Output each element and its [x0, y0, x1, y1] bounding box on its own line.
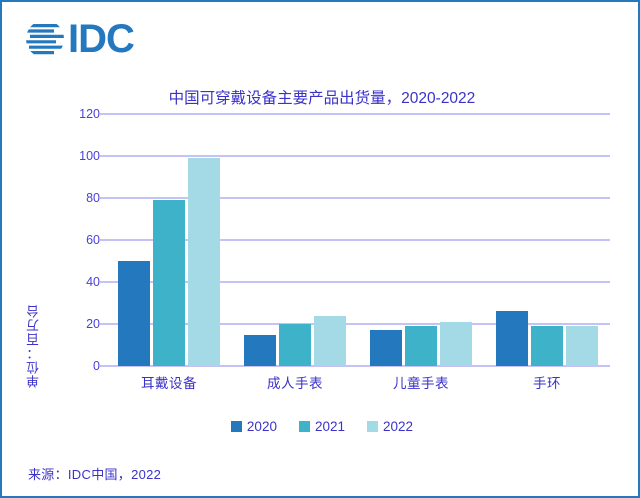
- idc-globe-icon: [24, 18, 66, 60]
- idc-logo-text: IDC: [68, 19, 134, 59]
- bar-2021-儿童手表[interactable]: [405, 326, 437, 366]
- bar-2022-手环[interactable]: [566, 326, 598, 366]
- bar-2022-耳戴设备[interactable]: [188, 158, 220, 366]
- bar-2022-儿童手表[interactable]: [440, 322, 472, 366]
- bar-2021-成人手表[interactable]: [279, 324, 311, 366]
- plot-area: 单位：百万台 020406080100120 耳戴设备成人手表儿童手表手环: [2, 114, 640, 404]
- y-axis-tick-labels: 020406080100120: [54, 114, 100, 384]
- bar-2020-成人手表[interactable]: [244, 335, 276, 367]
- bar-group: [358, 114, 484, 366]
- y-axis-tick-label: 40: [54, 276, 100, 289]
- bar-groups: [106, 114, 610, 366]
- legend-label: 2021: [315, 420, 345, 434]
- y-axis-title: 单位：百万台: [24, 304, 44, 388]
- y-axis-tick-label: 0: [54, 360, 100, 373]
- x-axis-category-labels: 耳戴设备成人手表儿童手表手环: [106, 372, 610, 392]
- bar-2020-耳戴设备[interactable]: [118, 261, 150, 366]
- idc-logo: IDC: [24, 16, 134, 62]
- bar-2021-耳戴设备[interactable]: [153, 200, 185, 366]
- legend-item-2021[interactable]: 2021: [299, 420, 345, 434]
- chart-title: 中国可穿戴设备主要产品出货量，2020-2022: [2, 86, 640, 108]
- bar-2022-成人手表[interactable]: [314, 316, 346, 366]
- bar-2021-手环[interactable]: [531, 326, 563, 366]
- x-axis-category-label: 手环: [484, 372, 610, 392]
- legend-swatch-icon: [367, 421, 378, 432]
- x-axis-category-label: 耳戴设备: [106, 372, 232, 392]
- legend-swatch-icon: [299, 421, 310, 432]
- y-axis-tick-label: 100: [54, 150, 100, 163]
- bar-group: [484, 114, 610, 366]
- y-axis-tick-label: 20: [54, 318, 100, 331]
- chart-page: IDC 中国可穿戴设备主要产品出货量，2020-2022 单位：百万台 0204…: [0, 0, 640, 498]
- legend-item-2022[interactable]: 2022: [367, 420, 413, 434]
- bar-2020-儿童手表[interactable]: [370, 330, 402, 366]
- bar-group: [232, 114, 358, 366]
- y-axis-tick-label: 120: [54, 108, 100, 121]
- x-axis-category-label: 成人手表: [232, 372, 358, 392]
- legend-label: 2022: [383, 420, 413, 434]
- bar-2020-手环[interactable]: [496, 311, 528, 366]
- y-axis-tick-label: 60: [54, 234, 100, 247]
- source-note: 来源：IDC中国，2022: [28, 464, 161, 483]
- bar-group: [106, 114, 232, 366]
- legend-label: 2020: [247, 420, 277, 434]
- y-axis-tick-label: 80: [54, 192, 100, 205]
- chart-legend: 202020212022: [2, 420, 640, 434]
- legend-swatch-icon: [231, 421, 242, 432]
- legend-item-2020[interactable]: 2020: [231, 420, 277, 434]
- x-axis-category-label: 儿童手表: [358, 372, 484, 392]
